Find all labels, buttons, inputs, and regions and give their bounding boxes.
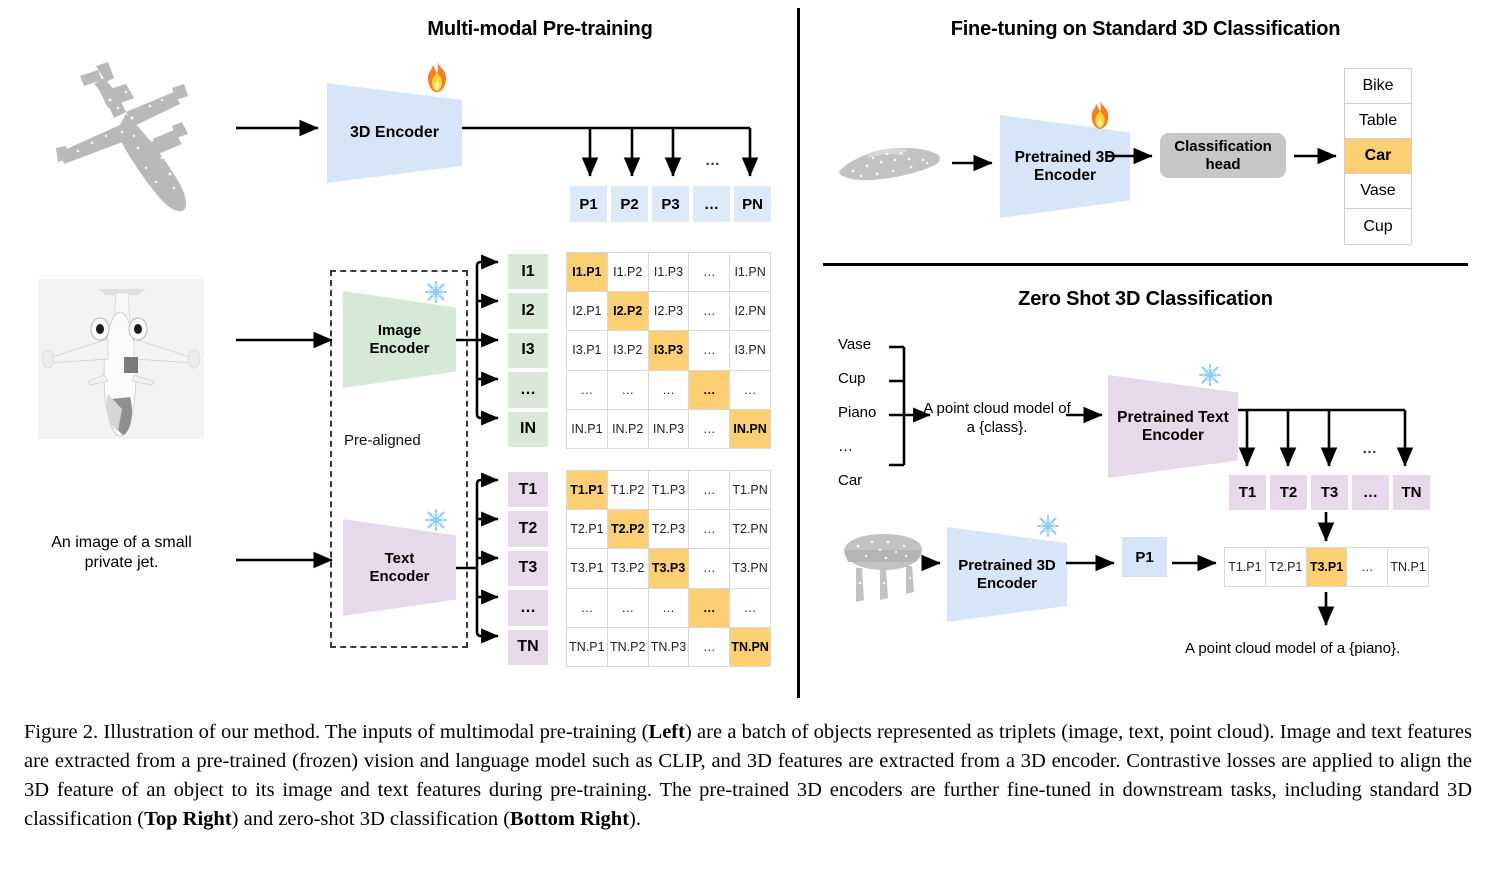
text-matrix-cell: … [649, 589, 689, 627]
text-token-column: T1T2T3…TN [506, 470, 550, 667]
encoder-3d-label: 3D Encoder [350, 124, 439, 142]
encoder-pretrained-text: Pretrained TextEncoder [1108, 375, 1238, 478]
encoder-text: TextEncoder [343, 519, 456, 616]
zero-shot-result: A point cloud model of a {piano}. [1185, 640, 1400, 657]
text-matrix-cell: T2.P2 [608, 510, 648, 548]
text-matrix-cell: T2.PN [730, 510, 770, 548]
text-token-cell: … [506, 588, 550, 627]
panel-title-top-right: Fine-tuning on Standard 3D Classificatio… [823, 18, 1468, 41]
zero-shot-sim-cell: T1.P1 [1225, 548, 1265, 586]
class-list-item[interactable]: Bike [1345, 69, 1411, 104]
text-matrix-cell: TN.P2 [608, 628, 648, 666]
text-matrix-cell: … [608, 589, 648, 627]
point-token-row: P1P2P3…PN [568, 184, 773, 224]
classification-head-label: Classificationhead [1174, 138, 1272, 174]
zero-shot-sim-cell: T2.P1 [1266, 548, 1306, 586]
text-matrix-cell: … [689, 628, 729, 666]
image-token-column: I1I2I3…IN [506, 252, 550, 449]
zero-shot-point-token: P1 [1122, 537, 1167, 577]
ellipsis-above-pn: … [705, 152, 720, 169]
caption-text: Figure 2. Illustration of our method. Th… [24, 721, 649, 743]
zero-shot-text-token-row: T1T2T3…TN [1227, 473, 1432, 512]
snowflake-icon [424, 508, 448, 532]
text-token-cell: TN [506, 628, 550, 667]
fire-icon [1088, 100, 1112, 130]
image-token-cell: … [506, 370, 550, 409]
pointcloud-piano [836, 528, 928, 608]
encoder-pretrained-3d-zeroshot-label: Pretrained 3DEncoder [958, 557, 1056, 592]
text-similarity-matrix: T1.P1T1.P2T1.P3…T1.PNT2.P1T2.P2T2.P3…T2.… [566, 470, 771, 667]
zero-shot-sim-cell: … [1347, 548, 1387, 586]
point-token-cell: P3 [650, 184, 691, 224]
image-matrix-cell: … [689, 410, 729, 448]
encoder-image: ImageEncoder [343, 291, 456, 388]
image-matrix-cell: IN.P1 [567, 410, 607, 448]
class-list[interactable]: BikeTableCarVaseCup [1344, 68, 1412, 245]
image-matrix-cell: I2.P1 [567, 292, 607, 330]
zero-shot-text-token-cell: … [1350, 473, 1391, 512]
text-matrix-cell: T3.P2 [608, 549, 648, 587]
encoder-image-label: ImageEncoder [369, 322, 429, 357]
figure-caption: Figure 2. Illustration of our method. Th… [24, 718, 1472, 834]
text-token-cell: T1 [506, 470, 550, 509]
pre-aligned-label: Pre-aligned [344, 432, 421, 449]
classification-head: Classificationhead [1160, 133, 1286, 178]
text-matrix-cell: … [730, 589, 770, 627]
image-matrix-cell: I2.PN [730, 292, 770, 330]
zero-shot-class-name: Vase [838, 336, 886, 353]
horizontal-divider [823, 263, 1468, 266]
input-image-thumbnail [38, 279, 204, 439]
caption-bold: Top Right [144, 808, 232, 830]
caption-bold: Left [649, 721, 685, 743]
image-token-cell: I1 [506, 252, 550, 291]
image-matrix-cell: … [608, 371, 648, 409]
text-matrix-cell: T2.P1 [567, 510, 607, 548]
text-token-cell: T3 [506, 549, 550, 588]
zero-shot-similarity-row: T1.P1T2.P1T3.P1…TN.P1 [1224, 547, 1429, 587]
text-matrix-cell: TN.P1 [567, 628, 607, 666]
image-matrix-cell: … [730, 371, 770, 409]
zero-shot-text-token-cell: TN [1391, 473, 1432, 512]
image-matrix-cell: I2.P3 [649, 292, 689, 330]
class-list-item[interactable]: Cup [1345, 209, 1411, 244]
encoder-3d: 3D Encoder [327, 83, 462, 183]
input-text-caption: An image of a smallprivate jet. [14, 533, 229, 573]
text-matrix-cell: T3.P1 [567, 549, 607, 587]
text-matrix-cell: … [689, 510, 729, 548]
image-matrix-cell: IN.P2 [608, 410, 648, 448]
image-matrix-cell: I1.P2 [608, 253, 648, 291]
zero-shot-sim-cell: T3.P1 [1307, 548, 1347, 586]
class-list-item[interactable]: Table [1345, 104, 1411, 139]
image-token-cell: I2 [506, 291, 550, 330]
text-matrix-cell: … [689, 589, 729, 627]
zero-shot-prompt: A point cloud model ofa {class}. [907, 400, 1087, 438]
caption-text: ) and zero-shot 3D classification ( [232, 808, 510, 830]
class-list-item[interactable]: Vase [1345, 174, 1411, 209]
panel-title-bottom-right: Zero Shot 3D Classification [823, 288, 1468, 311]
image-matrix-cell: IN.PN [730, 410, 770, 448]
text-matrix-cell: T1.PN [730, 471, 770, 509]
ellipsis-above-tn: … [1362, 440, 1377, 457]
image-matrix-cell: … [689, 331, 729, 369]
fire-icon [424, 61, 450, 93]
image-matrix-cell: I3.P2 [608, 331, 648, 369]
image-matrix-cell: IN.P3 [649, 410, 689, 448]
text-matrix-cell: T2.P3 [649, 510, 689, 548]
point-token-cell: … [691, 184, 732, 224]
snowflake-icon [1036, 514, 1060, 538]
zero-shot-class-name: … [838, 438, 886, 455]
encoder-pretrained-3d-finetune-label: Pretrained 3DEncoder [1015, 149, 1116, 185]
caption-bold: Bottom Right [510, 808, 629, 830]
figure-root: Multi-modal Pre-training Fine-tuning on … [0, 0, 1490, 888]
panel-title-left: Multi-modal Pre-training [285, 18, 795, 41]
text-matrix-cell: TN.P3 [649, 628, 689, 666]
image-matrix-cell: I3.P3 [649, 331, 689, 369]
vertical-divider [797, 8, 800, 698]
point-token-cell: P2 [609, 184, 650, 224]
zero-shot-text-token-cell: T3 [1309, 473, 1350, 512]
text-matrix-cell: … [689, 471, 729, 509]
text-matrix-cell: … [567, 589, 607, 627]
zero-shot-text-token-cell: T2 [1268, 473, 1309, 512]
image-matrix-cell: I1.P1 [567, 253, 607, 291]
zero-shot-class-name: Piano [838, 404, 886, 421]
text-matrix-cell: T3.P3 [649, 549, 689, 587]
image-token-cell: IN [506, 410, 550, 449]
text-matrix-cell: T3.PN [730, 549, 770, 587]
text-token-cell: T2 [506, 509, 550, 548]
zero-shot-sim-cell: TN.P1 [1388, 548, 1428, 586]
image-token-cell: I3 [506, 331, 550, 370]
text-matrix-cell: T1.P3 [649, 471, 689, 509]
text-matrix-cell: T1.P2 [608, 471, 648, 509]
pointcloud-airplane [22, 48, 237, 228]
image-matrix-cell: … [689, 371, 729, 409]
encoder-pretrained-3d-zeroshot: Pretrained 3DEncoder [947, 527, 1067, 622]
zero-shot-class-name: Cup [838, 370, 886, 387]
text-matrix-cell: T1.P1 [567, 471, 607, 509]
image-matrix-cell: I3.PN [730, 331, 770, 369]
image-matrix-cell: I3.P1 [567, 331, 607, 369]
encoder-pretrained-text-label: Pretrained TextEncoder [1117, 409, 1229, 445]
encoder-pretrained-3d-finetune: Pretrained 3DEncoder [1000, 115, 1130, 218]
point-token-cell: PN [732, 184, 773, 224]
image-matrix-cell: I1.PN [730, 253, 770, 291]
image-matrix-cell: I2.P2 [608, 292, 648, 330]
encoder-text-label: TextEncoder [369, 550, 429, 585]
image-similarity-matrix: I1.P1I1.P2I1.P3…I1.PNI2.P1I2.P2I2.P3…I2.… [566, 252, 771, 449]
zero-shot-class-name: Car [838, 472, 886, 489]
image-matrix-cell: … [689, 292, 729, 330]
caption-text: ). [629, 808, 641, 830]
image-matrix-cell: I1.P3 [649, 253, 689, 291]
zero-shot-text-token-cell: T1 [1227, 473, 1268, 512]
class-list-item[interactable]: Car [1345, 139, 1411, 174]
text-matrix-cell: … [689, 549, 729, 587]
pointcloud-car [833, 138, 945, 188]
image-matrix-cell: … [567, 371, 607, 409]
image-matrix-cell: … [649, 371, 689, 409]
image-matrix-cell: … [689, 253, 729, 291]
text-matrix-cell: TN.PN [730, 628, 770, 666]
snowflake-icon [1198, 363, 1222, 387]
point-token-cell: P1 [568, 184, 609, 224]
snowflake-icon [424, 280, 448, 304]
